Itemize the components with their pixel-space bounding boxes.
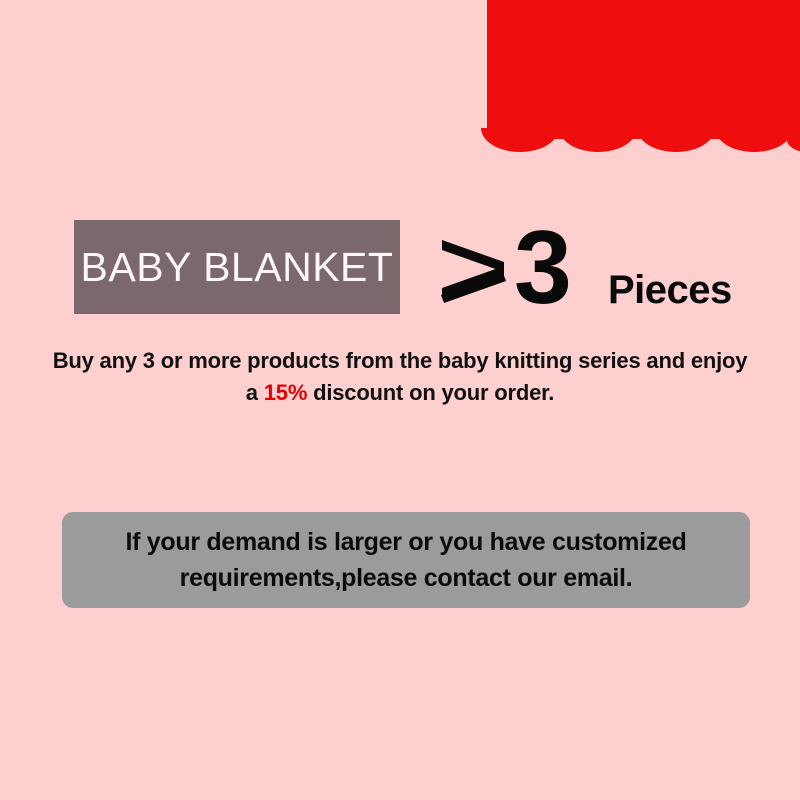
scallop-bump: [481, 128, 559, 152]
scallop-bump: [637, 128, 715, 152]
discount-ribbon: 15%: [487, 0, 800, 152]
offer-description: Buy any 3 or more products from the baby…: [50, 345, 750, 409]
greater-than-or-equal-icon: [440, 236, 508, 306]
quantity-unit-label: Pieces: [608, 270, 732, 310]
scallop-bump: [715, 128, 793, 152]
product-name-chip: BABY BLANKET: [74, 220, 400, 314]
offer-description-part-2: discount on your order.: [307, 380, 554, 405]
ribbon-scallop-edge: [487, 139, 800, 163]
scallop-bump: [559, 128, 637, 152]
quantity-threshold: 3 Pieces: [432, 218, 762, 318]
offer-description-accent: 15%: [264, 380, 307, 405]
quantity-number: 3: [514, 216, 570, 320]
scallop-bump: [787, 128, 800, 152]
contact-notice-text: If your demand is larger or you have cus…: [70, 524, 742, 596]
contact-notice: If your demand is larger or you have cus…: [62, 512, 750, 608]
promo-banner: 15% BABY BLANKET 3 Pieces Buy any 3 or m…: [0, 0, 800, 800]
ribbon-background: [487, 0, 800, 139]
product-name-label: BABY BLANKET: [81, 244, 394, 291]
